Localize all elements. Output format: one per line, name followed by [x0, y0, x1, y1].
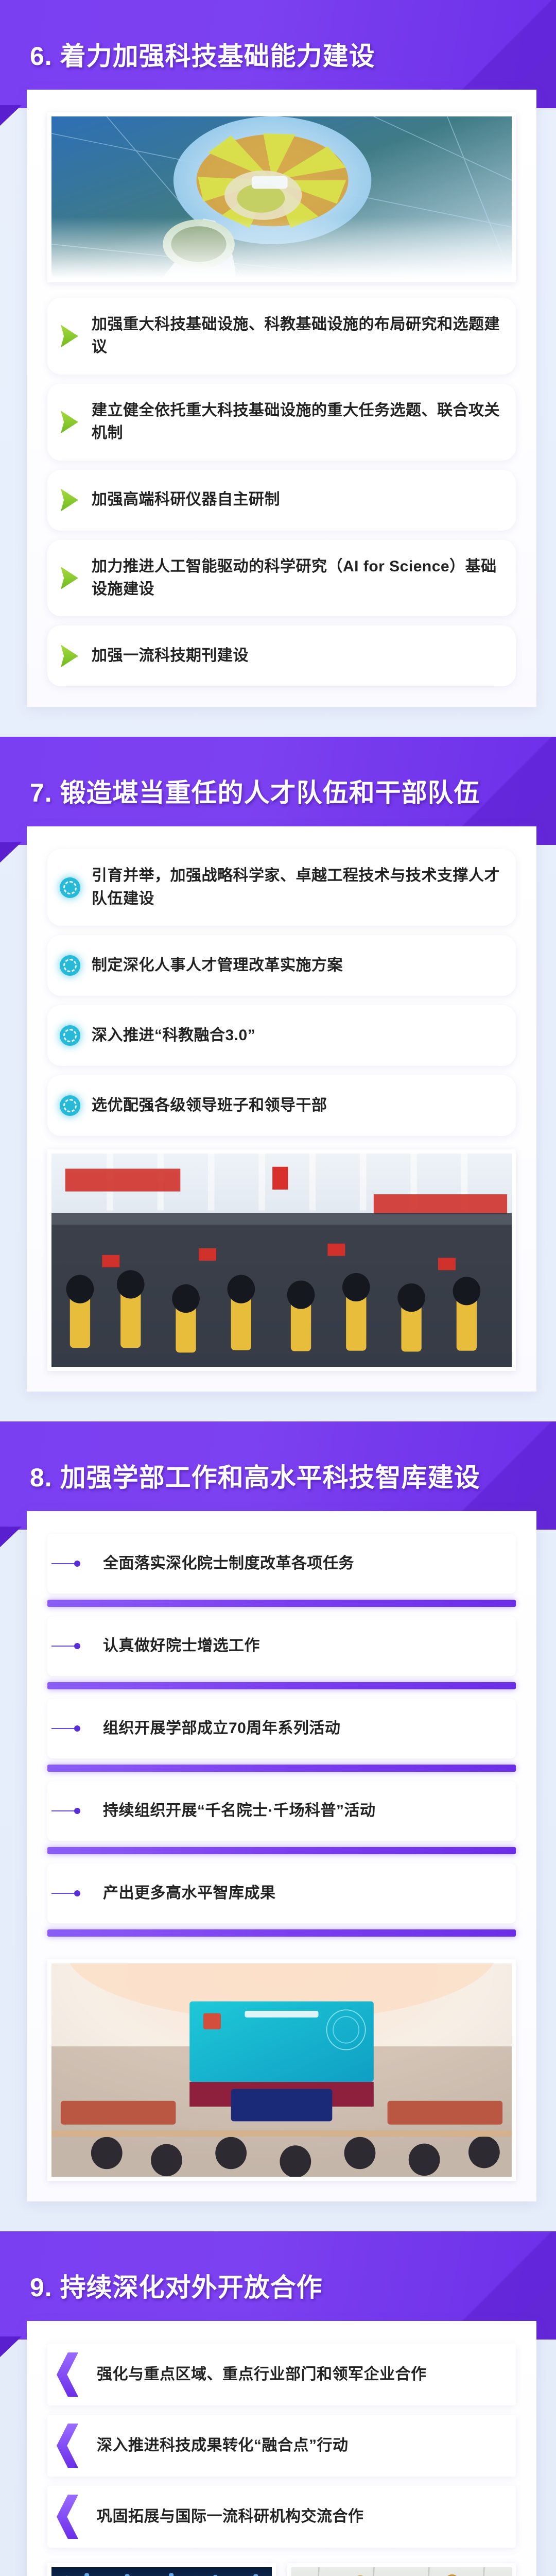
green-arrow-icon — [61, 325, 78, 347]
section-8-card: 全面落实深化院士制度改革各项任务 认真做好院士增选工作 组织开展学部成立70周年… — [27, 1511, 536, 2201]
section-6-title: 6. 着力加强科技基础能力建设 — [30, 36, 375, 73]
list-item-label: 产出更多高水平智库成果 — [103, 1882, 276, 1905]
divider-bar — [47, 1847, 516, 1854]
list-item-label: 全面落实深化院士制度改革各项任务 — [103, 1552, 354, 1575]
list-item-label: 深入推进“科教融合3.0” — [92, 1024, 255, 1047]
list-item-label: 组织开展学部成立70周年系列活动 — [103, 1717, 340, 1740]
infographic-page: 6. 着力加强科技基础能力建设 — [0, 0, 556, 2576]
list-item: 深入推进“科教融合3.0” — [47, 1005, 516, 1066]
list-item-label: 认真做好院士增选工作 — [103, 1635, 260, 1657]
list-item: 加强高端科研仪器自主研制 — [47, 470, 516, 531]
section-6-items: 加强重大科技基础设施、科教基础设施的布局研究和选题建议 建立健全依托重大科技基础… — [47, 298, 516, 686]
list-item-slot: 全面落实深化院士制度改革各项任务 — [47, 1534, 516, 1607]
list-item-label: 巩固拓展与国际一流科研机构交流合作 — [97, 2505, 364, 2528]
green-arrow-icon — [61, 489, 78, 512]
spacer — [0, 2201, 556, 2231]
conference-hall-art — [51, 1963, 512, 2177]
spacer — [0, 1392, 556, 1421]
list-item: 制定深化人事人才管理改革实施方案 — [47, 935, 516, 996]
list-item: 引育并举，加强战略科学家、卓越工程技术与技术支撑人才队伍建设 — [47, 849, 516, 926]
arrow-dot-icon — [51, 1561, 83, 1566]
list-item-label: 强化与重点区域、重点行业部门和领军企业合作 — [97, 2363, 427, 2386]
list-item-label: 建立健全依托重大科技基础设施的重大任务选题、联合攻关机制 — [92, 399, 502, 445]
cyan-ring-icon — [60, 1095, 80, 1116]
section-8-items: 全面落实深化院士制度改革各项任务 认真做好院士增选工作 组织开展学部成立70周年… — [47, 1534, 516, 1946]
section-9-items: 强化与重点区域、重点行业部门和领军企业合作 深入推进科技成果转化“融合点”行动 … — [47, 2344, 516, 2548]
spacer — [0, 707, 556, 737]
list-item-label: 加强重大科技基础设施、科教基础设施的布局研究和选题建议 — [92, 313, 502, 359]
section-9-title: 9. 持续深化对外开放合作 — [30, 2267, 323, 2304]
greater-bay-area-science-forum-photo — [47, 2563, 276, 2576]
list-item-label: 加强一流科技期刊建设 — [92, 645, 249, 667]
list-item: 加强一流科技期刊建设 — [47, 625, 516, 686]
section-7-title: 7. 锻造堪当重任的人才队伍和干部队伍 — [30, 772, 480, 809]
list-item-label: 选优配强各级领导班子和领导干部 — [92, 1094, 327, 1117]
section-9: 9. 持续深化对外开放合作 强化与重点区域、重点行业部门和领军企业合作 深入推进… — [0, 2231, 556, 2576]
divider-bar — [47, 1929, 516, 1937]
cyan-ring-icon — [60, 877, 80, 898]
section-8-photos — [47, 1959, 516, 2181]
section-9-photos — [47, 2563, 516, 2576]
list-item-label: 引育并举，加强战略科学家、卓越工程技术与技术支撑人才队伍建设 — [92, 865, 502, 910]
arrow-dot-icon — [51, 1643, 83, 1649]
synchrotron-aerial-photo — [47, 112, 516, 282]
chevron-left-icon — [57, 2424, 78, 2468]
arrow-dot-icon — [51, 1808, 83, 1814]
section-7-items: 引育并举，加强战略科学家、卓越工程技术与技术支撑人才队伍建设 制定深化人事人才管… — [47, 849, 516, 1136]
section-9-card: 强化与重点区域、重点行业部门和领军企业合作 深入推进科技成果转化“融合点”行动 … — [27, 2321, 536, 2576]
section-8: 8. 加强学部工作和高水平科技智库建设 全面落实深化院士制度改革各项任务 认真做… — [0, 1421, 556, 2201]
cyan-ring-icon — [60, 955, 80, 976]
divider-bar — [47, 1765, 516, 1772]
section-7: 7. 锻造堪当重任的人才队伍和干部队伍 引育并举，加强战略科学家、卓越工程技术与… — [0, 737, 556, 1392]
list-item-label: 制定深化人事人才管理改革实施方案 — [92, 954, 343, 977]
list-item: 组织开展学部成立70周年系列活动 — [47, 1699, 516, 1758]
banner-corner-decor — [0, 1527, 22, 1547]
graduation-ceremony-art — [51, 1154, 512, 1367]
list-item: 认真做好院士增选工作 — [47, 1616, 516, 1676]
green-arrow-icon — [61, 567, 78, 589]
list-item-label: 持续组织开展“千名院士·千场科普”活动 — [103, 1800, 376, 1822]
banner-corner-decor — [0, 2336, 22, 2357]
synchrotron-aerial-art — [51, 116, 512, 278]
science-china-20th-anniversary-photo — [47, 1959, 516, 2181]
list-item: 深入推进科技成果转化“融合点”行动 — [47, 2415, 516, 2477]
list-item: 选优配强各级领导班子和领导干部 — [47, 1075, 516, 1136]
green-arrow-icon — [61, 411, 78, 433]
green-arrow-icon — [61, 645, 78, 667]
banner-corner-decor — [0, 105, 22, 126]
detector-engineers-art — [291, 2567, 512, 2576]
list-item: 强化与重点区域、重点行业部门和领军企业合作 — [47, 2344, 516, 2405]
list-item: 加强重大科技基础设施、科教基础设施的布局研究和选题建议 — [47, 298, 516, 375]
section-6: 6. 着力加强科技基础能力建设 — [0, 0, 556, 707]
list-item-label: 加力推进人工智能驱动的科学研究（AI for Science）基础设施建设 — [92, 555, 502, 601]
forum-stage-art — [51, 2567, 272, 2576]
section-7-card: 引育并举，加强战略科学家、卓越工程技术与技术支撑人才队伍建设 制定深化人事人才管… — [27, 826, 536, 1392]
list-item: 建立健全依托重大科技基础设施的重大任务选题、联合攻关机制 — [47, 384, 516, 461]
list-item: 持续组织开展“千名院士·千场科普”活动 — [47, 1781, 516, 1841]
detector-engineers-photo — [287, 2563, 516, 2576]
banner-corner-decor — [0, 842, 22, 862]
section-7-photos — [47, 1149, 516, 1371]
divider-bar — [47, 1682, 516, 1689]
list-item-slot: 产出更多高水平智库成果 — [47, 1863, 516, 1937]
list-item: 全面落实深化院士制度改革各项任务 — [47, 1534, 516, 1594]
cyan-ring-icon — [60, 1025, 80, 1046]
list-item: 产出更多高水平智库成果 — [47, 1863, 516, 1923]
chevron-left-icon — [57, 2352, 78, 2397]
list-item-slot: 组织开展学部成立70周年系列活动 — [47, 1699, 516, 1772]
divider-bar — [47, 1600, 516, 1607]
graduation-ceremony-photo — [47, 1149, 516, 1371]
list-item: 加力推进人工智能驱动的科学研究（AI for Science）基础设施建设 — [47, 540, 516, 617]
list-item-label: 加强高端科研仪器自主研制 — [92, 488, 280, 511]
section-6-card: 加强重大科技基础设施、科教基础设施的布局研究和选题建议 建立健全依托重大科技基础… — [27, 90, 536, 707]
arrow-dot-icon — [51, 1726, 83, 1731]
arrow-dot-icon — [51, 1891, 83, 1896]
list-item-slot: 持续组织开展“千名院士·千场科普”活动 — [47, 1781, 516, 1854]
list-item: 巩固拓展与国际一流科研机构交流合作 — [47, 2486, 516, 2548]
list-item-slot: 认真做好院士增选工作 — [47, 1616, 516, 1689]
chevron-left-icon — [57, 2495, 78, 2539]
list-item-label: 深入推进科技成果转化“融合点”行动 — [97, 2434, 349, 2457]
section-8-title: 8. 加强学部工作和高水平科技智库建设 — [30, 1457, 480, 1494]
